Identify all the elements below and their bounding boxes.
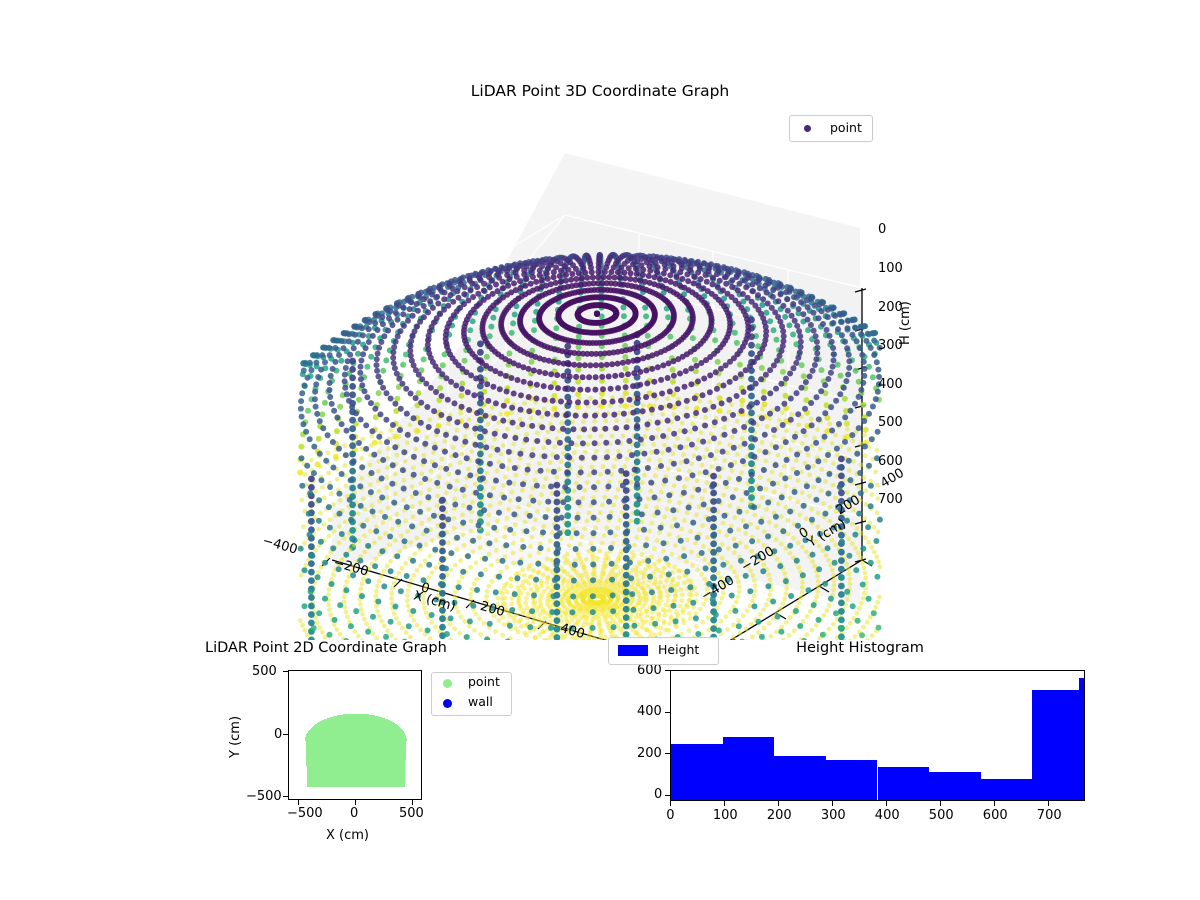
hist-x-tickmark xyxy=(1048,801,1049,806)
histogram-axes[interactable] xyxy=(670,670,1085,801)
plot2d-y-tickmark-0 xyxy=(283,734,288,735)
plot2d-y-tickmark-n500 xyxy=(283,796,288,797)
legend-entry-point[interactable]: point xyxy=(432,673,511,694)
hist-y-tickmark-0 xyxy=(665,795,670,796)
plot2d-y-axis-label: Y (cm) xyxy=(228,716,243,758)
plot2d-x-tickmark-0 xyxy=(355,800,356,805)
hist-y-tick-200: 200 xyxy=(637,746,662,761)
histogram-bar[interactable] xyxy=(774,756,826,800)
hist-y-tick-0: 0 xyxy=(654,787,662,802)
hist-x-tickmark xyxy=(886,801,887,806)
plot2d-x-axis-label: X (cm) xyxy=(326,828,369,843)
histogram-bar[interactable] xyxy=(981,779,1033,800)
hist-x-tickmark xyxy=(778,801,779,806)
hist-x-tick-200: 200 xyxy=(767,808,792,823)
plot3d-z-tick-100: 100 xyxy=(878,261,903,276)
plot3d-z-axis-label: H (cm) xyxy=(898,301,913,345)
legend-label-wall: wall xyxy=(468,694,493,709)
histogram-bar-peak xyxy=(1079,678,1084,800)
plot2d-panel: LiDAR Point 2D Coordinate Graph 500 0 −5… xyxy=(150,630,570,870)
hist-x-tickmark xyxy=(994,801,995,806)
hist-x-tick-700: 700 xyxy=(1037,808,1062,823)
hist-y-tickmark-600 xyxy=(665,670,670,671)
hist-x-tickmark xyxy=(670,801,671,806)
hist-x-tick-500: 500 xyxy=(929,808,954,823)
plot2d-x-tick-500: 500 xyxy=(399,806,424,821)
plot2d-y-tick-0: 0 xyxy=(274,727,282,742)
hist-x-tick-400: 400 xyxy=(875,808,900,823)
plot2d-legend[interactable]: point wall xyxy=(431,672,512,716)
plot3d-canvas[interactable] xyxy=(0,60,1200,640)
hist-y-tick-600: 600 xyxy=(637,663,662,678)
plot3d-z-tick-400: 400 xyxy=(878,377,903,392)
plot2d-x-tick-0: 0 xyxy=(350,806,358,821)
plot3d-z-tick-700: 700 xyxy=(878,492,903,507)
hist-x-tickmark xyxy=(724,801,725,806)
histogram-legend[interactable]: Height xyxy=(608,637,719,665)
hist-x-tick-0: 0 xyxy=(666,808,674,823)
plot2d-point-cloud xyxy=(289,671,421,799)
legend-marker-point xyxy=(443,679,452,688)
hist-x-tickmark xyxy=(940,801,941,806)
hist-x-tickmark xyxy=(832,801,833,806)
plot2d-y-tick-n500: −500 xyxy=(246,789,282,804)
plot3d-z-tick-500: 500 xyxy=(878,415,903,430)
plot2d-x-tickmark-n500 xyxy=(298,800,299,805)
plot2d-x-tick-n500: −500 xyxy=(287,806,323,821)
histogram-bar[interactable] xyxy=(929,772,981,800)
plot2d-axes[interactable] xyxy=(288,670,422,800)
histogram-bars xyxy=(671,671,1084,800)
hist-x-tick-300: 300 xyxy=(821,808,846,823)
plot2d-y-tick-500: 500 xyxy=(252,664,277,679)
legend-label-point: point xyxy=(468,674,500,689)
hist-x-tick-600: 600 xyxy=(983,808,1008,823)
plot3d-panel: LiDAR Point 3D Coordinate Graph point xyxy=(0,60,1200,640)
hist-x-tick-100: 100 xyxy=(713,808,738,823)
histogram-bar[interactable] xyxy=(723,737,775,800)
plot3d-z-tick-0: 0 xyxy=(878,222,886,237)
plot2d-y-tickmark-500 xyxy=(283,671,288,672)
plot2d-title: LiDAR Point 2D Coordinate Graph xyxy=(150,640,570,656)
legend-swatch-height xyxy=(618,645,648,656)
hist-y-tickmark-200 xyxy=(665,753,670,754)
histogram-bar[interactable] xyxy=(878,767,930,800)
histogram-bar[interactable] xyxy=(1032,690,1084,800)
legend-marker-wall xyxy=(443,699,452,708)
legend-label-height: Height xyxy=(658,642,699,657)
plot2d-x-tickmark-500 xyxy=(412,800,413,805)
legend-entry-wall[interactable]: wall xyxy=(432,693,511,714)
hist-y-tick-400: 400 xyxy=(637,704,662,719)
histogram-bar[interactable] xyxy=(671,744,723,800)
hist-y-tickmark-400 xyxy=(665,712,670,713)
histogram-bar[interactable] xyxy=(826,760,878,800)
histogram-panel: Height Histogram Height 600 400 200 0 01… xyxy=(600,630,1140,870)
